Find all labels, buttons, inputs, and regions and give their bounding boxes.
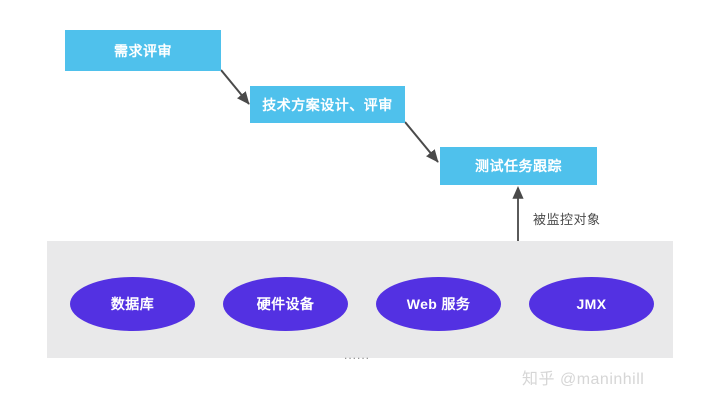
arrow-label-monitored-object: 被监控对象 [533, 209, 601, 228]
arrow-box2-to-box3 [405, 122, 438, 162]
process-box-technical-design-review[interactable]: 技术方案设计、评审 [250, 86, 405, 123]
monitored-node-jmx[interactable]: JMX [529, 277, 654, 331]
process-box-requirement-review[interactable]: 需求评审 [65, 30, 221, 71]
monitored-node-web-service[interactable]: Web 服务 [376, 277, 501, 331]
process-box-test-task-tracking[interactable]: 测试任务跟踪 [440, 147, 597, 185]
more-nodes-indicator: ...... [344, 348, 370, 362]
diagram-canvas: 需求评审 技术方案设计、评审 测试任务跟踪 被监控对象 数据库 硬件设备 Web… [0, 0, 720, 405]
monitored-node-database[interactable]: 数据库 [70, 277, 195, 331]
monitored-node-hardware-device[interactable]: 硬件设备 [223, 277, 348, 331]
arrow-box1-to-box2 [221, 70, 249, 104]
watermark: 知乎 @maninhill [522, 365, 644, 389]
